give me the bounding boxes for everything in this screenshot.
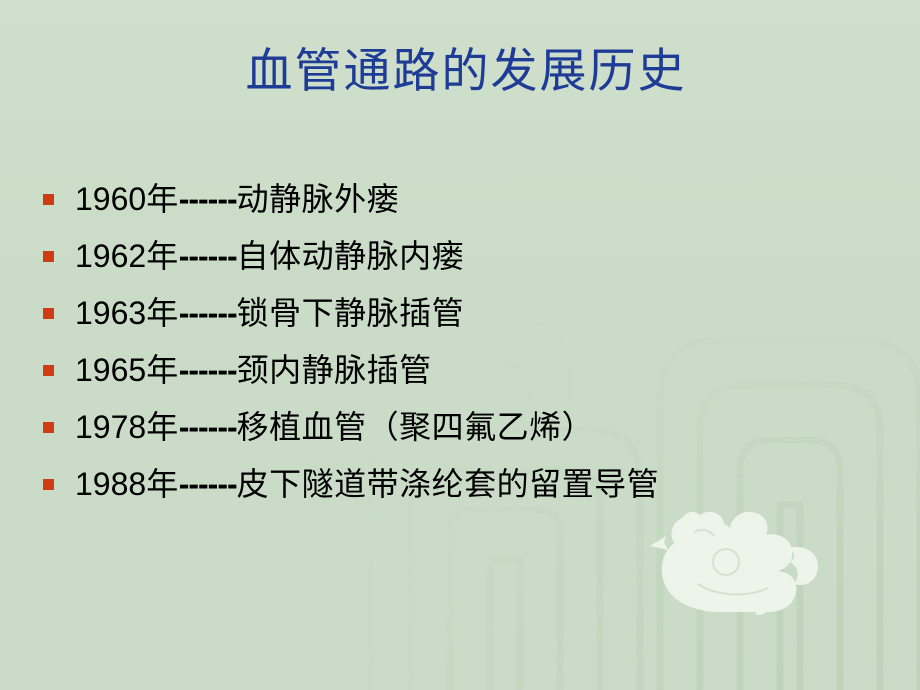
page-title: 血管通路的发展历史 xyxy=(0,46,920,99)
list-item-year-unit: 年 xyxy=(146,351,179,389)
list-item-text: 1960年------动静脉外瘘 xyxy=(75,183,399,215)
list-item-text: 1965年------颈内静脉插管 xyxy=(75,354,432,386)
list-item-text: 1962年------自体动静脉内瘘 xyxy=(75,240,464,272)
list-item: 1963年------锁骨下静脉插管 xyxy=(40,284,900,341)
list-item-label: 皮下隧道带涤纶套的留置导管 xyxy=(237,465,660,503)
list-item-text: 1978年------移植血管（聚四氟乙烯） xyxy=(75,411,594,443)
list-item-year: 1965 xyxy=(75,352,146,388)
bullet-square-icon xyxy=(43,479,54,490)
bullet-square-icon xyxy=(43,251,54,262)
list-item-label: 自体动静脉内瘘 xyxy=(237,237,465,275)
timeline-list: 1960年------动静脉外瘘 1962年------自体动静脉内瘘 1963… xyxy=(40,170,900,512)
list-item-year-unit: 年 xyxy=(146,180,179,218)
bullet-square-icon xyxy=(43,194,54,205)
list-item-text: 1963年------锁骨下静脉插管 xyxy=(75,297,464,329)
list-item-label: 锁骨下静脉插管 xyxy=(237,294,465,332)
list-item-label: 移植血管（聚四氟乙烯） xyxy=(237,408,595,446)
list-item: 1978年------移植血管（聚四氟乙烯） xyxy=(40,398,900,455)
slide-canvas: 血管通路的发展历史 1960年------动静脉外瘘 1962年------自体… xyxy=(0,0,920,690)
list-item-dashes: ------ xyxy=(179,409,237,445)
list-item-year: 1988 xyxy=(75,466,146,502)
list-item-dashes: ------ xyxy=(179,466,237,502)
list-item-year: 1978 xyxy=(75,409,146,445)
list-item-year-unit: 年 xyxy=(146,408,179,446)
list-item-dashes: ------ xyxy=(179,181,237,217)
list-item: 1988年------皮下隧道带涤纶套的留置导管 xyxy=(40,455,900,512)
list-item-label: 颈内静脉插管 xyxy=(237,351,432,389)
list-item-text: 1988年------皮下隧道带涤纶套的留置导管 xyxy=(75,468,659,500)
list-item: 1962年------自体动静脉内瘘 xyxy=(40,227,900,284)
bullet-square-icon xyxy=(43,422,54,433)
list-item-year-unit: 年 xyxy=(146,465,179,503)
list-item-year: 1962 xyxy=(75,238,146,274)
list-item-dashes: ------ xyxy=(179,295,237,331)
list-item-dashes: ------ xyxy=(179,352,237,388)
list-item: 1960年------动静脉外瘘 xyxy=(40,170,900,227)
list-item-year-unit: 年 xyxy=(146,237,179,275)
bullet-square-icon xyxy=(43,308,54,319)
list-item-label: 动静脉外瘘 xyxy=(237,180,400,218)
list-item-year: 1960 xyxy=(75,181,146,217)
bullet-square-icon xyxy=(43,365,54,376)
list-item-year: 1963 xyxy=(75,295,146,331)
list-item-dashes: ------ xyxy=(179,238,237,274)
list-item: 1965年------颈内静脉插管 xyxy=(40,341,900,398)
list-item-year-unit: 年 xyxy=(146,294,179,332)
